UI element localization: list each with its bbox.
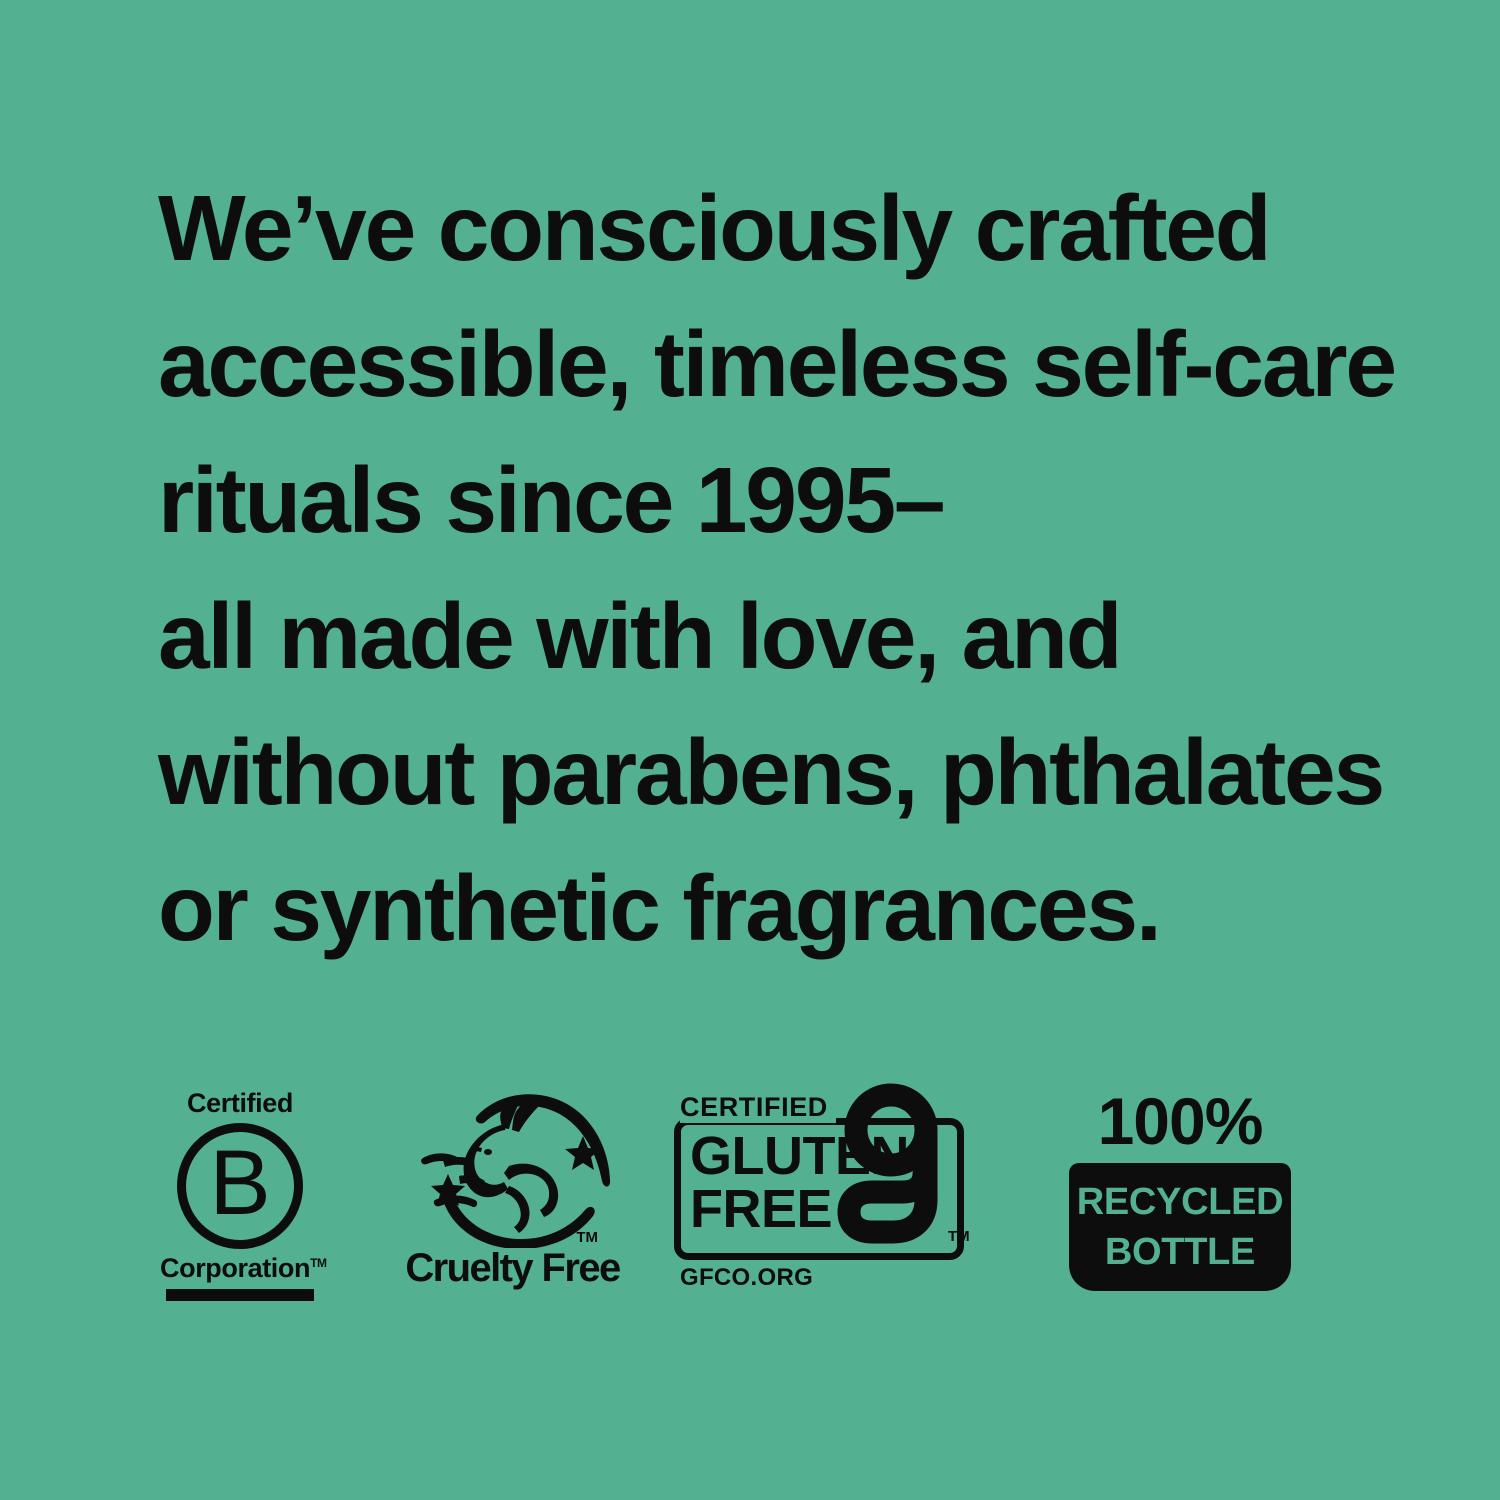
b-corp-corporation-label: CorporationTM (160, 1253, 320, 1284)
gluten-free-mark: CERTIFIED GLUTEN FREE TM GFCO.ORG (672, 1088, 982, 1303)
headline-line-2: accessible, timeless self-care (158, 296, 1448, 432)
headline-line-5: without parabens, phthalates (158, 704, 1448, 840)
recycled-bottle-line-1: RECYCLED (1077, 1177, 1284, 1227)
cruelty-free-label: Cruelty Free (395, 1246, 630, 1291)
promo-panel: We’ve consciously crafted accessible, ti… (0, 0, 1500, 1500)
recycled-percent-label: 100% (1050, 1088, 1310, 1154)
gluten-free-url-label: GFCO.ORG (680, 1264, 813, 1292)
recycled-bottle-line-2: BOTTLE (1105, 1227, 1255, 1277)
b-corp-corporation-text: Corporation (160, 1253, 310, 1283)
headline-line-6: or synthetic fragrances. (158, 840, 1448, 976)
b-corp-certified-label: Certified (160, 1088, 320, 1118)
gluten-free-g-icon (827, 1082, 962, 1267)
recycled-bottle-plate: RECYCLED BOTTLE (1069, 1163, 1291, 1291)
headline-line-4: all made with love, and (158, 568, 1448, 704)
badge-b-corporation: Certified B CorporationTM (160, 1088, 320, 1303)
leaping-bunny-icon: TM (405, 1088, 620, 1248)
badge-certified-gluten-free: CERTIFIED GLUTEN FREE TM GFCO.ORG (672, 1088, 1002, 1303)
headline-line-3: rituals since 1995– (158, 432, 1448, 568)
gluten-free-certified-label: CERTIFIED (680, 1092, 836, 1123)
certification-badge-row: Certified B CorporationTM (150, 1088, 1350, 1303)
b-corp-underline-bar (166, 1289, 314, 1301)
headline-line-1: We’ve consciously crafted (158, 160, 1448, 296)
headline-block: We’ve consciously crafted accessible, ti… (158, 160, 1448, 976)
b-corp-circle-icon: B (177, 1123, 303, 1249)
badge-cruelty-free: TM Cruelty Free (395, 1088, 630, 1303)
gluten-free-trademark-icon: TM (948, 1228, 970, 1245)
cruelty-free-trademark-icon: TM (576, 1229, 598, 1246)
b-corp-letter: B (209, 1137, 270, 1229)
b-corp-trademark-icon: TM (310, 1256, 327, 1270)
badge-recycled-bottle: 100% RECYCLED BOTTLE (1050, 1088, 1310, 1303)
